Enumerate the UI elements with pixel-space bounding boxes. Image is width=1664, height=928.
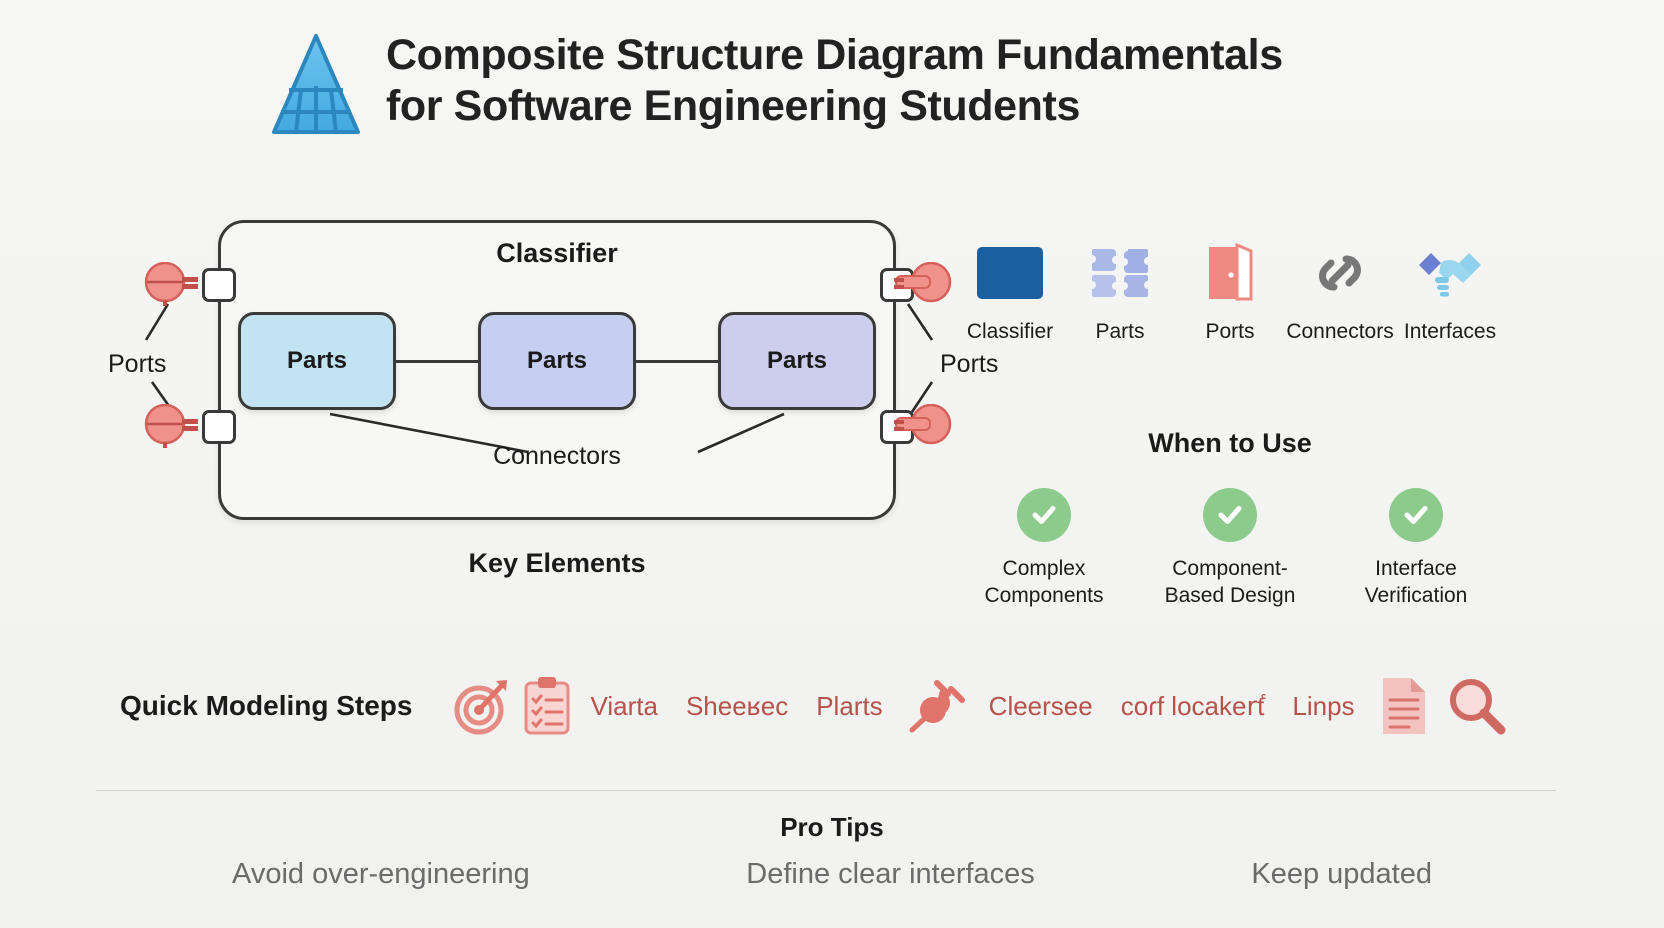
- connectors-label: Connectors: [218, 442, 896, 471]
- pro-tip: Define clear interfaces: [746, 858, 1035, 891]
- port-socket[interactable]: [202, 268, 236, 302]
- when-line-2: Verification: [1365, 583, 1468, 610]
- when-to-use-label: Complex Components: [984, 556, 1103, 610]
- step-word: Linps: [1292, 691, 1354, 722]
- legend-label: Connectors: [1286, 320, 1393, 344]
- legend-item-connectors[interactable]: Connectors: [1290, 236, 1390, 344]
- power-plug-icon: [907, 677, 965, 735]
- step-word: Plarts: [816, 691, 882, 722]
- when-to-use-item[interactable]: Component- Based Design: [1146, 488, 1314, 610]
- quick-modeling-steps-row: Quick Modeling Steps: [120, 668, 1520, 744]
- page-title: Composite Structure Diagram Fundamentals…: [386, 22, 1283, 131]
- title-line-1: Composite Structure Diagram Fundamentals: [386, 30, 1283, 81]
- magnifier-icon: [1445, 675, 1507, 737]
- when-to-use-label: Component- Based Design: [1165, 556, 1296, 610]
- check-icon: [1389, 488, 1443, 542]
- clipboard-checklist-icon: [520, 675, 576, 737]
- when-line-1: Complex: [984, 556, 1103, 583]
- header: Composite Structure Diagram Fundamentals…: [268, 22, 1283, 140]
- legend-item-parts[interactable]: Parts: [1070, 236, 1170, 344]
- when-to-use-item[interactable]: Interface Verification: [1332, 488, 1500, 610]
- quick-modeling-steps-title: Quick Modeling Steps: [120, 690, 412, 722]
- section-divider: [96, 790, 1556, 791]
- blue-pyramid-grid-icon: [268, 28, 364, 140]
- when-to-use-label: Interface Verification: [1365, 556, 1468, 610]
- pro-tip: Avoid over-engineering: [232, 858, 530, 891]
- when-line-1: Component-: [1165, 556, 1296, 583]
- step-word: coɾf locakerٔt: [1121, 691, 1265, 722]
- ports-label-left: Ports: [108, 350, 166, 379]
- check-icon: [1203, 488, 1257, 542]
- step-word: Viarta: [590, 691, 657, 722]
- title-line-2: for Software Engineering Students: [386, 81, 1283, 132]
- when-line-2: Based Design: [1165, 583, 1296, 610]
- element-legend: Classifier Parts Ports: [960, 236, 1500, 344]
- handshake-icon: [1417, 236, 1483, 310]
- when-to-use-item[interactable]: Complex Components: [960, 488, 1128, 610]
- puzzle-pieces-icon: [1090, 236, 1150, 310]
- open-door-icon: [1203, 236, 1257, 310]
- when-to-use-title: When to Use: [960, 428, 1500, 459]
- pro-tips-title: Pro Tips: [0, 812, 1664, 843]
- red-socket-port-icon: [894, 262, 952, 308]
- step-word: Cleersee: [989, 691, 1093, 722]
- when-to-use-row: Complex Components Component- Based Desi…: [960, 488, 1500, 610]
- step-word: Sheeʁec: [686, 691, 788, 722]
- port-socket[interactable]: [202, 410, 236, 444]
- key-elements-label: Key Elements: [218, 548, 896, 579]
- pro-tips-row: Avoid over-engineering Define clear inte…: [232, 858, 1432, 891]
- red-socket-port-icon: [894, 404, 952, 450]
- infographic-canvas: Composite Structure Diagram Fundamentals…: [0, 0, 1664, 928]
- red-socket-port-icon: [144, 262, 202, 308]
- blue-rectangle-icon: [975, 236, 1045, 310]
- ports-label-right: Ports: [940, 350, 998, 379]
- pro-tip: Keep updated: [1251, 858, 1432, 891]
- legend-item-ports[interactable]: Ports: [1180, 236, 1280, 344]
- legend-label: Parts: [1095, 320, 1144, 344]
- legend-label: Interfaces: [1404, 320, 1496, 344]
- red-socket-port-icon: [144, 404, 202, 450]
- when-line-2: Components: [984, 583, 1103, 610]
- legend-label: Classifier: [967, 320, 1053, 344]
- document-lines-icon: [1377, 674, 1431, 738]
- legend-item-interfaces[interactable]: Interfaces: [1400, 236, 1500, 344]
- check-icon: [1017, 488, 1071, 542]
- composite-structure-diagram: Classifier Parts Parts Parts Connectors …: [108, 200, 988, 620]
- when-line-1: Interface: [1365, 556, 1468, 583]
- legend-label: Ports: [1205, 320, 1254, 344]
- target-dartboard-icon: [450, 675, 512, 737]
- chain-link-icon: [1310, 236, 1370, 310]
- legend-item-classifier[interactable]: Classifier: [960, 236, 1060, 344]
